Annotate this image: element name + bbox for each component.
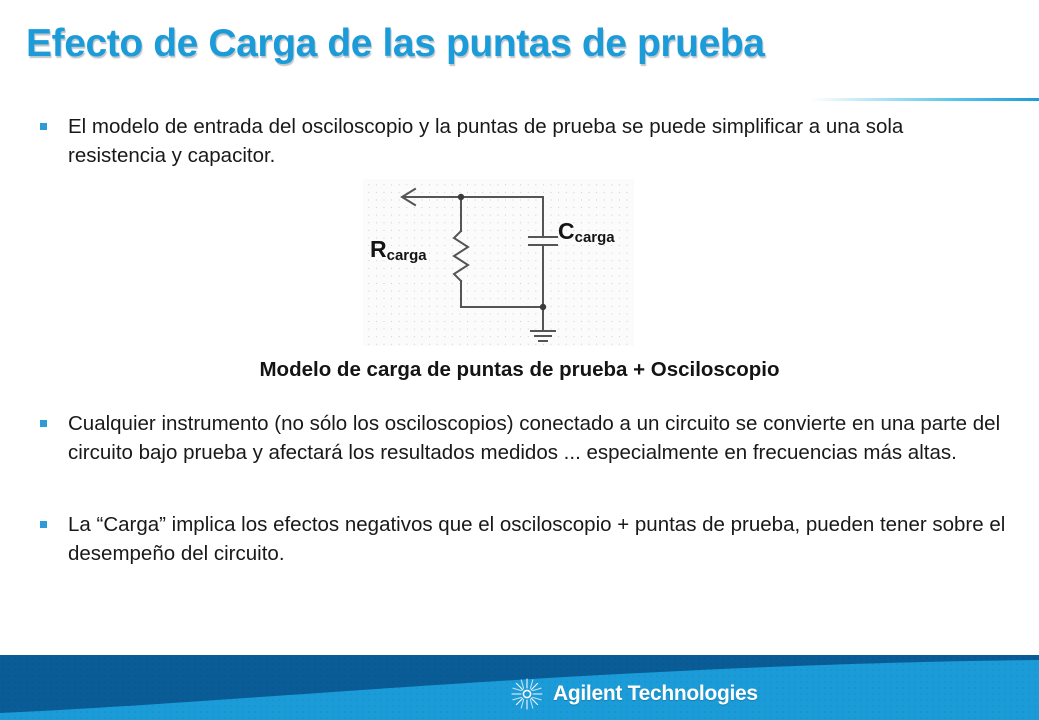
slide-root: Efecto de Carga de las puntas de prueba … [0,0,1039,720]
page-title: Efecto de Carga de las puntas de prueba [26,22,765,66]
bullet-marker-icon [40,521,47,528]
resistor-label-main: R [370,236,387,262]
node-junction-top [458,194,464,200]
bullet-text-2: Cualquier instrumento (no sólo los oscil… [68,412,1000,464]
capacitor-label: Ccarga [558,218,615,246]
agilent-logo: Agilent Technologies [510,678,758,710]
resistor-label: Rcarga [370,236,427,264]
body-content: El modelo de entrada del osciloscopio y … [34,112,1004,174]
bullet-text-3: La “Carga” implica los efectos negativos… [68,513,1005,565]
agilent-starburst-icon [510,677,544,711]
title-divider [0,98,1039,101]
bullet-item-2: Cualquier instrumento (no sólo los oscil… [34,409,1036,467]
resistor-symbol [454,231,468,281]
bullet-text-1: El modelo de entrada del osciloscopio y … [68,115,903,167]
bullet-marker-icon [40,123,47,130]
node-junction-bottom [540,304,546,310]
capacitor-label-sub: carga [575,229,615,246]
brand-name: Agilent Technologies [553,682,758,706]
bullet-item-3: La “Carga” implica los efectos negativos… [34,510,1036,568]
resistor-label-sub: carga [387,247,427,264]
capacitor-label-main: C [558,218,575,244]
figure-caption: Modelo de carga de puntas de prueba + Os… [0,358,1039,382]
bullet-item-1: El modelo de entrada del osciloscopio y … [34,112,1004,170]
bullet-marker-icon [40,420,47,427]
